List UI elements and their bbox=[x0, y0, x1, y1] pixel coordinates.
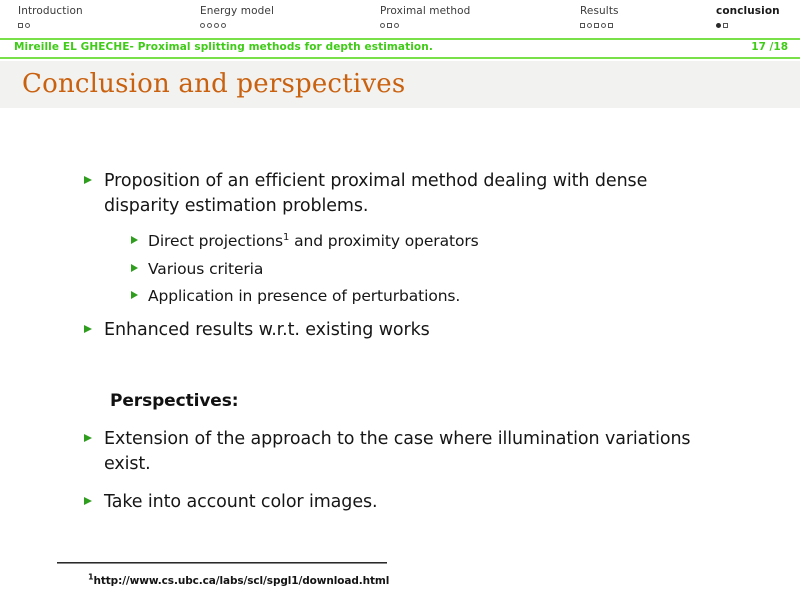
perspectives-heading: Perspectives: bbox=[110, 391, 238, 411]
miniframe-dot[interactable] bbox=[200, 23, 205, 28]
nav-section-label: Energy model bbox=[200, 5, 362, 18]
nav-section-results[interactable]: Results bbox=[562, 5, 704, 30]
list-item-enhanced-results: Enhanced results w.r.t. existing works bbox=[84, 318, 694, 343]
list-item-text: Proposition of an efficient proximal met… bbox=[104, 169, 694, 219]
footline-author-title: Mireille EL GHECHE- Proximal splitting m… bbox=[14, 41, 433, 53]
miniframe-dot[interactable] bbox=[380, 23, 385, 28]
list-item-text: Extension of the approach to the case wh… bbox=[104, 427, 699, 477]
list-item-color-images: Take into account color images. bbox=[84, 490, 694, 515]
slide-body: Proposition of an efficient proximal met… bbox=[0, 108, 800, 548]
miniframe-dot[interactable] bbox=[214, 23, 219, 28]
triangle-bullet-icon bbox=[84, 325, 92, 333]
list-item-application-perturbations: Application in presence of perturbations… bbox=[131, 285, 691, 308]
triangle-bullet-icon bbox=[84, 497, 92, 505]
miniframe-dot[interactable] bbox=[594, 23, 599, 28]
nav-section-label: Results bbox=[580, 5, 704, 18]
triangle-bullet-icon bbox=[131, 291, 138, 299]
nav-section-introduction[interactable]: Introduction bbox=[0, 5, 182, 30]
list-item-direct-projections: Direct projections1 and proximity operat… bbox=[131, 230, 691, 253]
list-item-text-main: Direct projections bbox=[148, 232, 283, 250]
title-band: Conclusion and perspectives bbox=[0, 61, 800, 108]
list-item-various-criteria: Various criteria bbox=[131, 258, 691, 281]
miniframe-dot[interactable] bbox=[25, 23, 30, 28]
miniframe-dot[interactable] bbox=[587, 23, 592, 28]
miniframe-dot[interactable] bbox=[387, 23, 392, 28]
triangle-bullet-icon bbox=[84, 434, 92, 442]
triangle-bullet-icon bbox=[131, 264, 138, 272]
miniframe-dot[interactable] bbox=[221, 23, 226, 28]
list-item-text: Enhanced results w.r.t. existing works bbox=[104, 318, 430, 343]
miniframe-dot[interactable] bbox=[207, 23, 212, 28]
nav-miniframe-dots bbox=[18, 21, 182, 30]
nav-miniframe-dots bbox=[716, 21, 800, 30]
nav-section-label: conclusion bbox=[716, 5, 800, 18]
list-item-text: Take into account color images. bbox=[104, 490, 377, 515]
list-item-proposition: Proposition of an efficient proximal met… bbox=[84, 169, 694, 219]
list-item-text: Application in presence of perturbations… bbox=[148, 285, 460, 308]
footnote-separator-rule bbox=[57, 562, 387, 564]
page-title: Conclusion and perspectives bbox=[22, 69, 405, 99]
miniframe-dot[interactable] bbox=[394, 23, 399, 28]
nav-miniframe-dots bbox=[380, 21, 562, 30]
nav-miniframe-dots bbox=[580, 21, 704, 30]
nav-section-label: Proximal method bbox=[380, 5, 562, 18]
miniframe-dot[interactable] bbox=[608, 23, 613, 28]
footnote: 1http://www.cs.ubc.ca/labs/scl/spgl1/dow… bbox=[88, 575, 389, 587]
list-item-text: Various criteria bbox=[148, 258, 263, 281]
author-footline: Mireille EL GHECHE- Proximal splitting m… bbox=[0, 40, 800, 57]
nav-section-energy-model[interactable]: Energy model bbox=[182, 5, 362, 30]
navigation-headline: Introduction Energy model Proximal metho… bbox=[0, 0, 800, 38]
miniframe-dot-active[interactable] bbox=[716, 23, 721, 28]
nav-section-label: Introduction bbox=[18, 5, 182, 18]
miniframe-dot[interactable] bbox=[580, 23, 585, 28]
miniframe-dot[interactable] bbox=[18, 23, 23, 28]
list-item-text-tail: and proximity operators bbox=[289, 232, 478, 250]
page-number: 17 /18 bbox=[751, 41, 788, 53]
nav-section-conclusion[interactable]: conclusion bbox=[704, 5, 800, 30]
nav-section-proximal-method[interactable]: Proximal method bbox=[362, 5, 562, 30]
triangle-bullet-icon bbox=[131, 236, 138, 244]
nav-miniframe-dots bbox=[200, 21, 362, 30]
miniframe-dot[interactable] bbox=[723, 23, 728, 28]
footline-divider-rule bbox=[0, 57, 800, 59]
navigation-section-list: Introduction Energy model Proximal metho… bbox=[0, 0, 800, 30]
list-item-text: Direct projections1 and proximity operat… bbox=[148, 230, 479, 253]
list-item-extension-illumination: Extension of the approach to the case wh… bbox=[84, 427, 699, 477]
footnote-url[interactable]: http://www.cs.ubc.ca/labs/scl/spgl1/down… bbox=[93, 575, 389, 587]
miniframe-dot[interactable] bbox=[601, 23, 606, 28]
triangle-bullet-icon bbox=[84, 176, 92, 184]
